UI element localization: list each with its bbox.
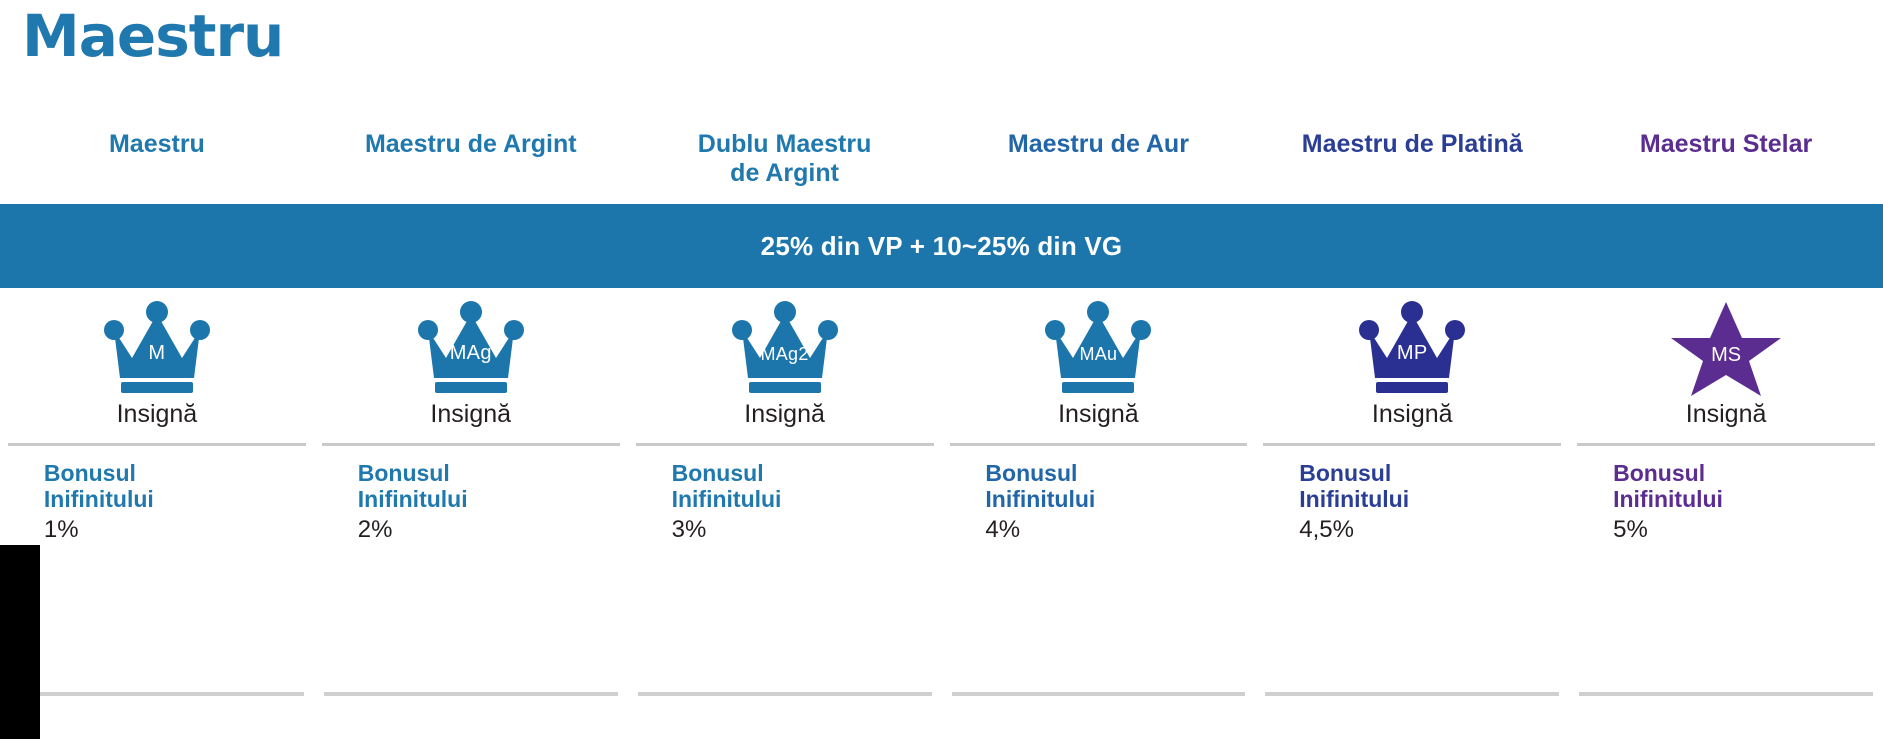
bonus-title-line1: Bonusul [672, 460, 764, 486]
divider-segment [950, 443, 1248, 446]
divider-segment [10, 692, 304, 696]
bonus-value: 1% [44, 516, 314, 544]
divider-segment [1265, 692, 1559, 696]
insignia-label: Insignă [942, 400, 1256, 448]
column-header-line1: Maestru de Platină [1302, 130, 1523, 158]
column-header-maestru-de-platina: Maestru de Platină [1255, 130, 1569, 196]
bonus-divider-row [0, 692, 1883, 697]
column-header-line1: Maestru de Argint [365, 130, 577, 158]
bonus-value: 3% [672, 516, 942, 544]
bonus-value: 5% [1613, 516, 1883, 544]
divider-segment [1263, 443, 1561, 446]
crown-icon-glyph [1357, 300, 1467, 396]
column-header-line2: de Argint [730, 159, 839, 187]
bonus-title-line1: Bonusul [1299, 460, 1391, 486]
divider-segment [322, 443, 620, 446]
bonus-title-line1: Bonusul [358, 460, 450, 486]
bonus-cell-maestru-de-aur: Bonusul Inifinitului 4% [942, 460, 1256, 570]
bonus-title-line2: Inifinitului [44, 486, 154, 512]
bonus-title-line2: Inifinitului [358, 486, 468, 512]
bonus-title: Bonusul Inifinitului [672, 460, 942, 512]
page-title: Maestru [22, 2, 283, 70]
bonus-value: 4% [985, 516, 1255, 544]
left-edge-block [0, 545, 40, 739]
crown-icon-glyph [102, 300, 212, 396]
column-header-line1: Maestru [109, 130, 205, 158]
column-header-line1: Maestru de Aur [1008, 130, 1189, 158]
bonus-title: Bonusul Inifinitului [1299, 460, 1569, 512]
bonus-title-line1: Bonusul [1613, 460, 1705, 486]
column-header-maestru-de-argint: Maestru de Argint [314, 130, 628, 196]
column-header-maestru-de-aur: Maestru de Aur [942, 130, 1256, 196]
crown-icon: MAg2 [730, 300, 840, 396]
insignia-label: Insignă [628, 400, 942, 448]
crown-icon-glyph [1043, 300, 1153, 396]
bonus-title: Bonusul Inifinitului [985, 460, 1255, 512]
bonus-title: Bonusul Inifinitului [358, 460, 628, 512]
bonus-title-line2: Inifinitului [985, 486, 1095, 512]
column-header-line1: Dublu Maestru [698, 130, 872, 158]
insignia-label: Insignă [1255, 400, 1569, 448]
column-header-maestru: Maestru [0, 130, 314, 196]
crown-icon-glyph [416, 300, 526, 396]
bonus-cell-maestru-de-argint: Bonusul Inifinitului 2% [314, 460, 628, 570]
star-icon: MS [1671, 300, 1781, 396]
bonus-row: Bonusul Inifinitului 1% Bonusul Inifinit… [0, 460, 1883, 570]
divider-segment [638, 692, 932, 696]
divider-segment [952, 692, 1246, 696]
insignia-row: Insignă Insignă Insignă Insignă Insignă … [0, 400, 1883, 448]
bonus-title-line1: Bonusul [985, 460, 1077, 486]
bonus-cell-maestru-de-platina: Bonusul Inifinitului 4,5% [1255, 460, 1569, 570]
divider-segment [1577, 443, 1875, 446]
star-icon-glyph [1671, 300, 1781, 396]
bonus-title-line1: Bonusul [44, 460, 136, 486]
bonus-title: Bonusul Inifinitului [1613, 460, 1883, 512]
crown-icon: MP [1357, 300, 1467, 396]
bonus-title-line2: Inifinitului [1299, 486, 1409, 512]
divider-segment [1579, 692, 1873, 696]
column-header-row: Maestru Maestru de Argint Dublu Maestru … [0, 130, 1883, 196]
insignia-label: Insignă [314, 400, 628, 448]
crown-icon-glyph [730, 300, 840, 396]
column-header-dublu-maestru-de-argint: Dublu Maestru de Argint [628, 130, 942, 196]
divider-segment [636, 443, 934, 446]
column-header-line1: Maestru Stelar [1640, 130, 1812, 158]
bonus-value: 4,5% [1299, 516, 1569, 544]
divider-segment [324, 692, 618, 696]
insignia-label: Insignă [0, 400, 314, 448]
bonus-title-line2: Inifinitului [672, 486, 782, 512]
column-header-maestru-stelar: Maestru Stelar [1569, 130, 1883, 196]
crown-icon: MAu [1043, 300, 1153, 396]
bonus-title: Bonusul Inifinitului [44, 460, 314, 512]
crown-icon: MAg [416, 300, 526, 396]
bonus-value: 2% [358, 516, 628, 544]
commission-banner-text: 25% din VP + 10~25% din VG [761, 231, 1123, 262]
bonus-cell-maestru: Bonusul Inifinitului 1% [0, 460, 314, 570]
bonus-cell-maestru-stelar: Bonusul Inifinitului 5% [1569, 460, 1883, 570]
insignia-divider-row [0, 443, 1883, 447]
rank-comparison-page: Maestru Maestru Maestru de Argint Dublu … [0, 0, 1883, 739]
bonus-title-line2: Inifinitului [1613, 486, 1723, 512]
commission-banner: 25% din VP + 10~25% din VG [0, 204, 1883, 288]
bonus-cell-dublu-maestru-de-argint: Bonusul Inifinitului 3% [628, 460, 942, 570]
crown-icon: M [102, 300, 212, 396]
insignia-label: Insignă [1569, 400, 1883, 448]
divider-segment [8, 443, 306, 446]
